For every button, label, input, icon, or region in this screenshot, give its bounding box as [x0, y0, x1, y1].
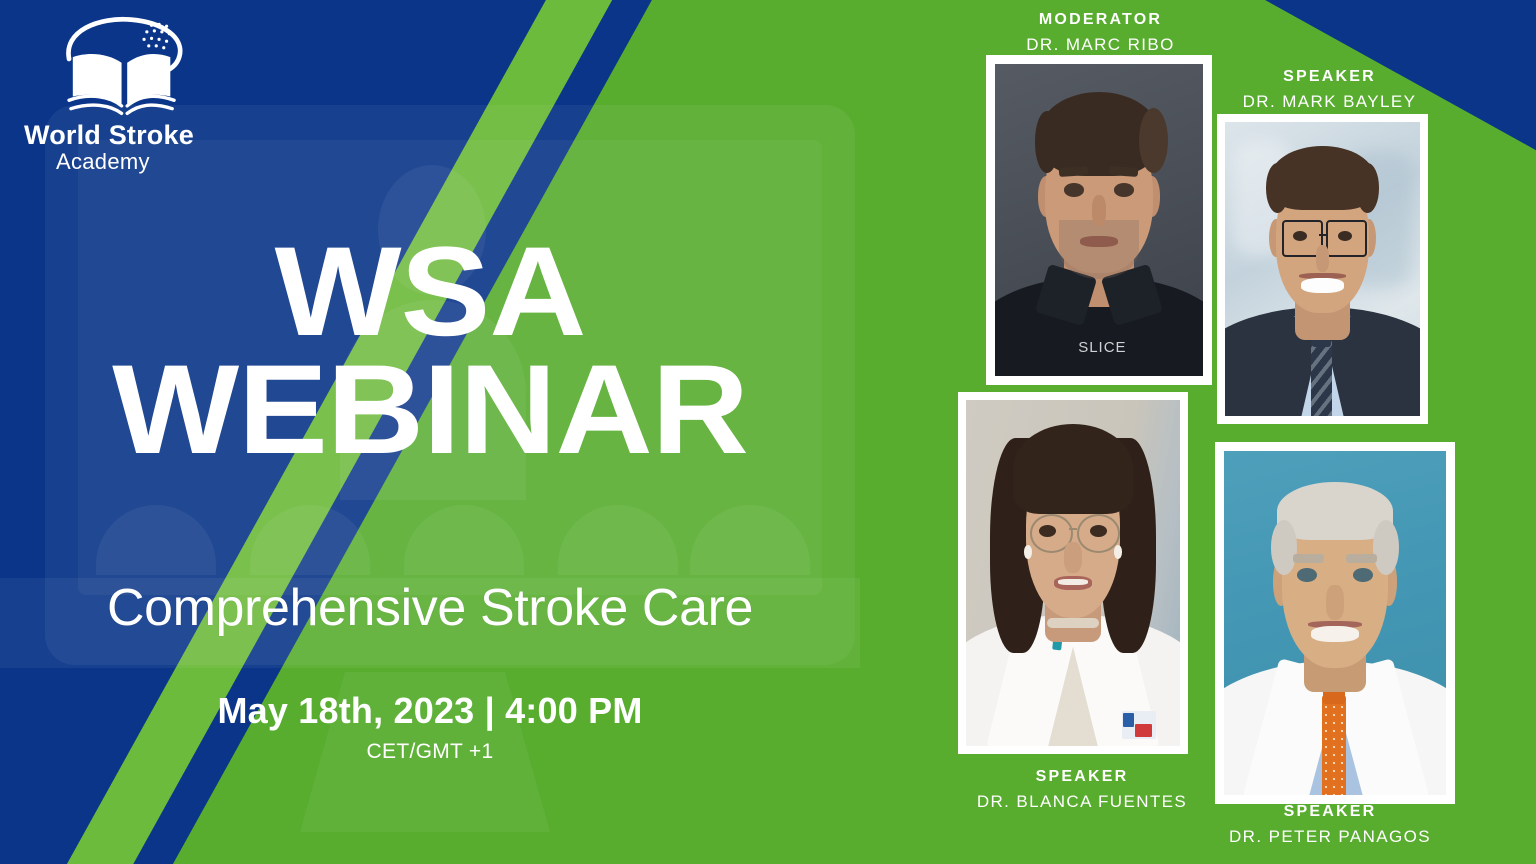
world-stroke-academy-logo: World Stroke Academy — [14, 14, 254, 173]
title-line-2: WEBINAR — [0, 350, 886, 468]
glasses-icon — [1326, 220, 1367, 256]
webinar-datetime: May 18th, 2023 | 4:00 PM — [0, 690, 860, 732]
portrait-mark-bayley — [1217, 114, 1428, 424]
watermark-audience-icon — [96, 505, 216, 575]
label-peter-panagos: SPEAKER DR. PETER PANAGOS — [1185, 800, 1475, 850]
label-marc-ribo: MODERATOR DR. MARC RIBO — [963, 8, 1238, 58]
person-name: DR. PETER PANAGOS — [1185, 824, 1475, 850]
logo-title-line1: World Stroke — [24, 121, 254, 149]
portrait-marc-ribo: SLICE — [986, 55, 1212, 385]
webinar-subtitle: Comprehensive Stroke Care — [0, 578, 860, 638]
person-name: DR. BLANCA FUENTES — [943, 789, 1221, 815]
title-line-1: WSA — [0, 232, 886, 350]
page-title: WSA WEBINAR — [0, 232, 886, 468]
shirt-logo-text: SLICE — [1078, 339, 1126, 356]
person-name: DR. MARK BAYLEY — [1188, 89, 1471, 115]
role-label: SPEAKER — [943, 765, 1221, 789]
logo-title-line2: Academy — [56, 150, 254, 173]
person-name: DR. MARC RIBO — [963, 32, 1238, 58]
glasses-icon — [1077, 514, 1120, 553]
label-blanca-fuentes: SPEAKER DR. BLANCA FUENTES — [943, 765, 1221, 815]
role-label: MODERATOR — [963, 8, 1238, 32]
label-mark-bayley: SPEAKER DR. MARK BAYLEY — [1188, 65, 1471, 115]
portrait-blanca-fuentes — [958, 392, 1188, 754]
open-book-brain-icon — [50, 14, 210, 119]
webinar-promo-banner: World Stroke Academy WSA WEBINAR Compreh… — [0, 0, 1536, 864]
role-label: SPEAKER — [1188, 65, 1471, 89]
webinar-timezone: CET/GMT +1 — [0, 740, 860, 764]
portrait-peter-panagos — [1215, 442, 1455, 804]
